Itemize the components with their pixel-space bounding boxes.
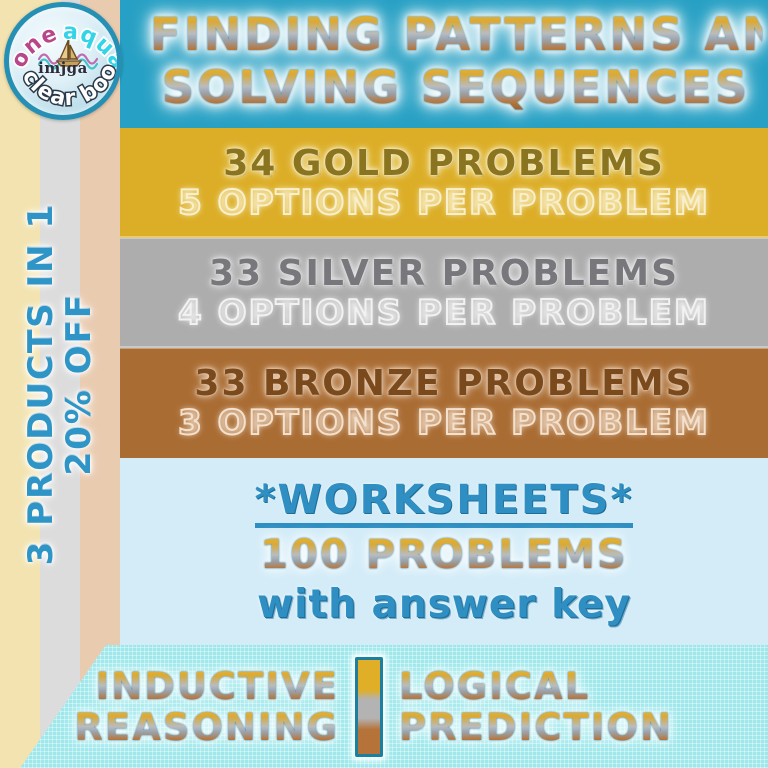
promo-discount: 20% OFF [62, 293, 96, 476]
tier-gold-heading: 34 GOLD PROBLEMS [223, 146, 665, 182]
footer-left-line-1: INDUCTIVE [95, 668, 339, 705]
poster-canvas: FINDING PATTERNS AND SOLVING SEQUENCES 3… [0, 0, 768, 768]
brand-logo[interactable]: one aqua clear book [4, 2, 122, 120]
tier-bronze-heading: 33 BRONZE PROBLEMS [194, 366, 693, 402]
page-title: FINDING PATTERNS AND SOLVING SEQUENCES [150, 12, 762, 110]
title-line-1: FINDING PATTERNS AND [150, 12, 762, 57]
worksheets-label: *WORKSHEETS* [255, 480, 634, 528]
tier-gold: 34 GOLD PROBLEMS 5 OPTIONS PER PROBLEM [120, 128, 768, 238]
tier-gold-subheading: 5 OPTIONS PER PROBLEM [178, 186, 710, 220]
promo-products-in-one: 3 PRODUCTS IN 1 [24, 203, 58, 565]
worksheets-answer-key: with answer key [257, 582, 631, 627]
tier-silver: 33 SILVER PROBLEMS 4 OPTIONS PER PROBLEM [120, 238, 768, 348]
worksheets-section: *WORKSHEETS* 100 PROBLEMS with answer ke… [120, 458, 768, 648]
metal-gradient-divider-bar [355, 657, 383, 757]
footer-right-line-2: PREDICTION [399, 709, 673, 746]
worksheets-total: 100 PROBLEMS [260, 535, 627, 575]
footer-right-line-1: LOGICAL [399, 668, 590, 705]
tier-bronze: 33 BRONZE PROBLEMS 3 OPTIONS PER PROBLEM [120, 348, 768, 458]
footer-right-group: LOGICAL PREDICTION [399, 668, 719, 746]
title-line-2: SOLVING SEQUENCES [150, 65, 762, 110]
logo-handle: imjga [9, 59, 117, 77]
tier-silver-subheading: 4 OPTIONS PER PROBLEM [178, 296, 710, 330]
tier-silver-heading: 33 SILVER PROBLEMS [209, 256, 679, 292]
tier-bronze-subheading: 3 OPTIONS PER PROBLEM [178, 406, 710, 440]
